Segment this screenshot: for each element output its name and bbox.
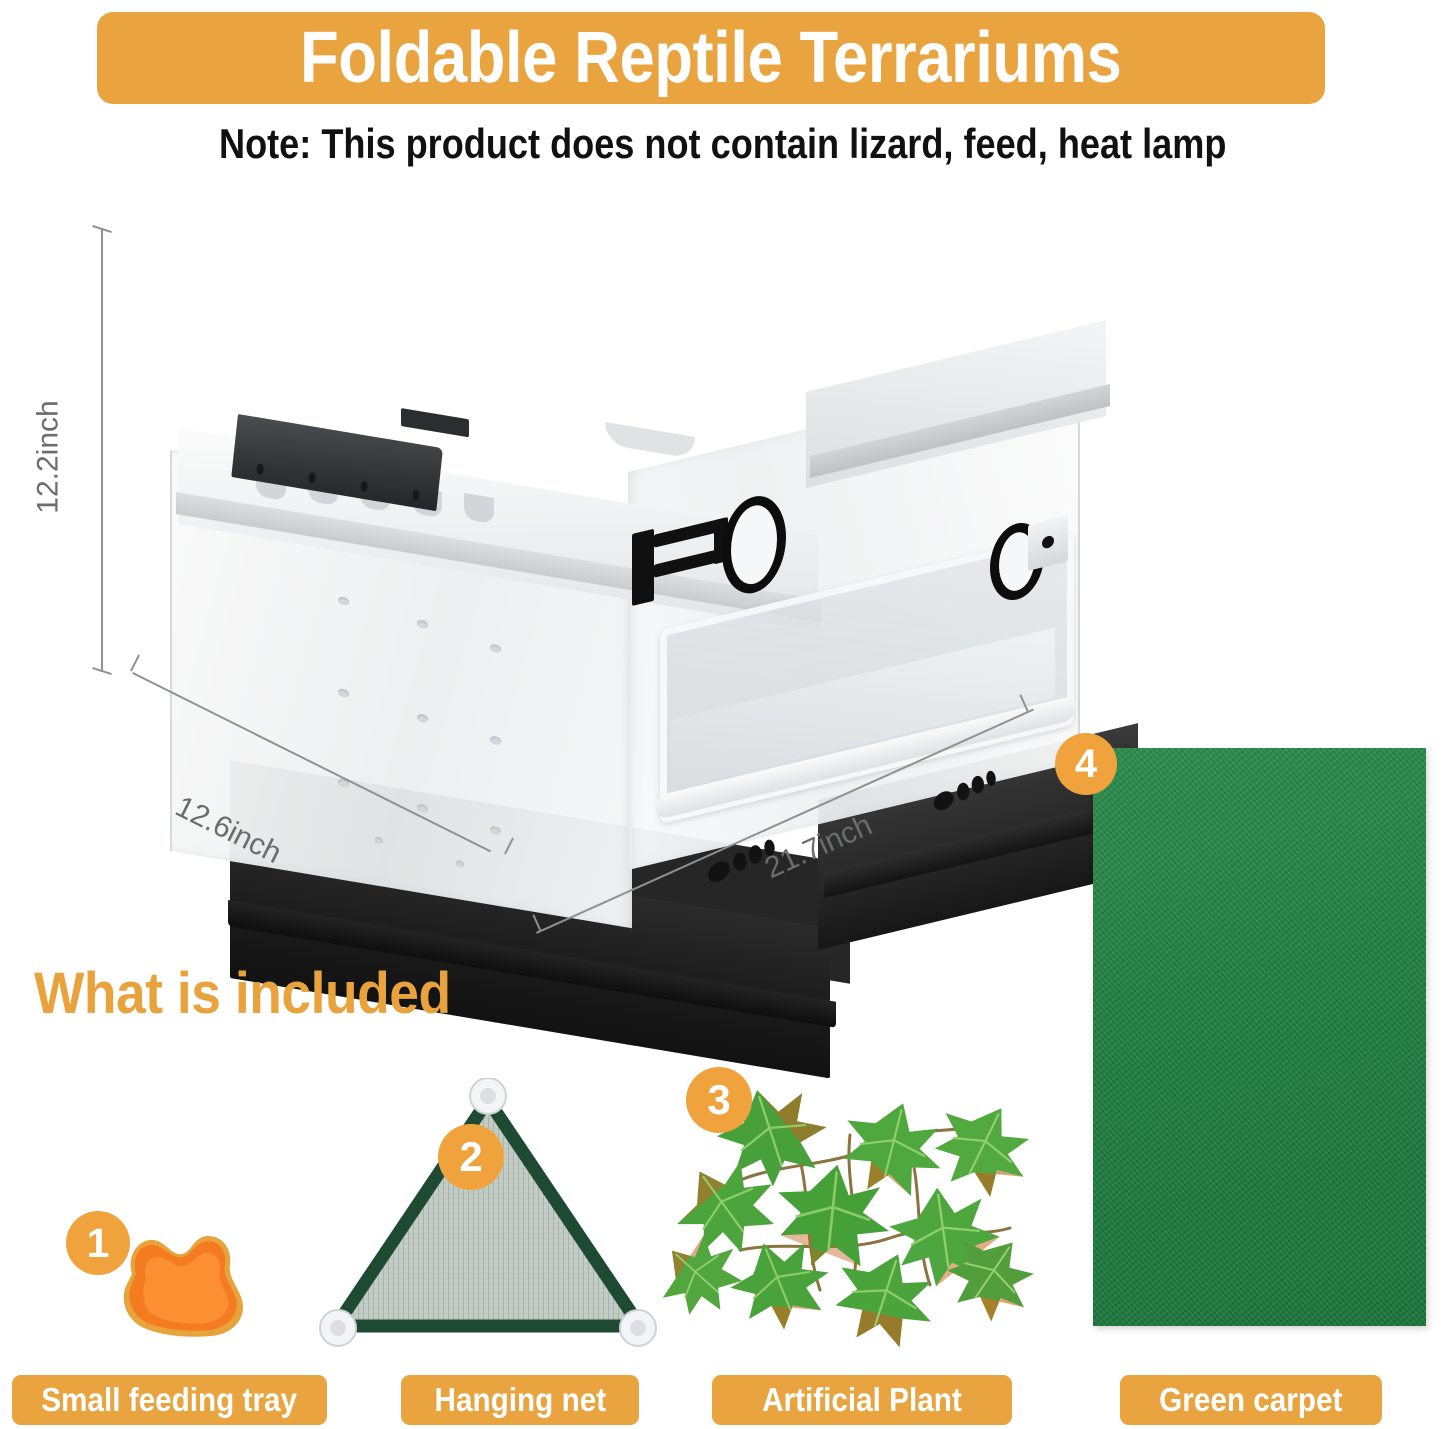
item-badge-3: 3: [686, 1067, 752, 1133]
terrarium-lid-notch: [605, 422, 695, 459]
item-label-3-text: Artificial Plant: [762, 1381, 962, 1419]
title-banner: Foldable Reptile Terrariums: [97, 12, 1325, 104]
item-label-2-text: Hanging net: [434, 1381, 606, 1419]
hanging-net-icon: [318, 1078, 658, 1353]
item-badge-4: 4: [1055, 733, 1117, 795]
included-heading: What is included: [34, 960, 487, 1027]
item-label-small-feeding-tray: Small feeding tray: [12, 1375, 327, 1425]
product-note: Note: This product does not contain liza…: [0, 120, 1445, 168]
page-title: Foldable Reptile Terrariums: [300, 22, 1121, 94]
product-note-text: Note: This product does not contain liza…: [219, 120, 1226, 168]
item-badge-2: 2: [438, 1124, 504, 1190]
item-badge-1: 1: [66, 1211, 130, 1275]
item-badge-4-number: 4: [1075, 742, 1097, 787]
item-badge-1-number: 1: [87, 1220, 110, 1267]
item-label-1-text: Small feeding tray: [42, 1381, 298, 1419]
item-label-4-text: Green carpet: [1159, 1381, 1342, 1419]
item-badge-2-number: 2: [459, 1133, 482, 1181]
item-label-artificial-plant: Artificial Plant: [712, 1375, 1012, 1425]
dimension-height-label: 12.2inch: [32, 400, 66, 513]
item-label-green-carpet: Green carpet: [1120, 1375, 1382, 1425]
lid-clip-tab: [401, 408, 469, 437]
green-carpet-icon: [1093, 748, 1426, 1326]
included-heading-text: What is included: [34, 960, 451, 1027]
item-badge-3-number: 3: [707, 1076, 730, 1124]
terrarium-product-image: [60, 200, 1060, 960]
item-label-hanging-net: Hanging net: [401, 1375, 639, 1425]
